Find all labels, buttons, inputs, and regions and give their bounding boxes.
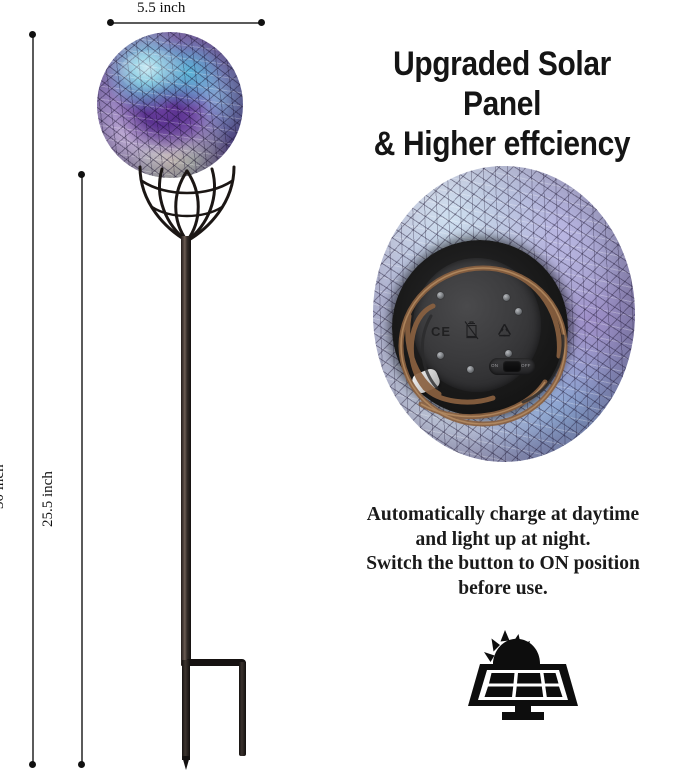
description-line-4: before use. xyxy=(334,577,672,602)
width-dimension-label: 5.5 inch xyxy=(137,0,185,17)
infographic-canvas: 5.5 inch 30 inch 25.5 inch Upgraded So xyxy=(0,0,679,771)
total-height-dimension-label: 30 inch xyxy=(0,464,8,509)
mosaic-crackle-texture xyxy=(97,32,243,178)
panel-stand-base xyxy=(502,712,544,720)
stake-height-dimension-line xyxy=(81,176,83,766)
total-height-endpoint-bottom xyxy=(29,761,36,768)
stake-height-endpoint-top xyxy=(78,171,85,178)
total-height-endpoint-top xyxy=(29,31,36,38)
stake-height-dimension-label: 25.5 inch xyxy=(40,471,57,527)
description-text: Automatically charge at daytime and ligh… xyxy=(334,503,672,601)
total-height-dimension-line xyxy=(32,36,34,766)
bronze-wire-frame xyxy=(373,166,635,462)
stake-crossbar xyxy=(186,659,246,666)
page-title: Upgraded Solar Panel & Higher effciency xyxy=(356,44,648,164)
width-dimension-endpoint-left xyxy=(107,19,114,26)
solar-panel-icon xyxy=(462,616,584,724)
stake-height-endpoint-bottom xyxy=(78,761,85,768)
description-line-1: Automatically charge at daytime xyxy=(334,503,672,528)
decorative-cage xyxy=(132,163,242,247)
product-pole xyxy=(181,236,191,666)
description-line-3: Switch the button to ON position xyxy=(334,552,672,577)
width-dimension-endpoint-right xyxy=(258,19,265,26)
headline-line-2: & Higher effciency xyxy=(356,124,648,164)
sun-icon xyxy=(484,630,540,664)
stake-prong-primary xyxy=(182,660,190,760)
panel-stand-neck xyxy=(515,706,531,712)
width-dimension-line xyxy=(110,22,262,24)
description-line-2: and light up at night. xyxy=(334,528,672,553)
globe-underside-detail-image: ON OFF CE xyxy=(373,166,635,462)
mosaic-globe-product-image xyxy=(97,32,243,178)
stake-prong-secondary xyxy=(239,662,246,756)
headline-line-1: Upgraded Solar Panel xyxy=(356,44,648,124)
